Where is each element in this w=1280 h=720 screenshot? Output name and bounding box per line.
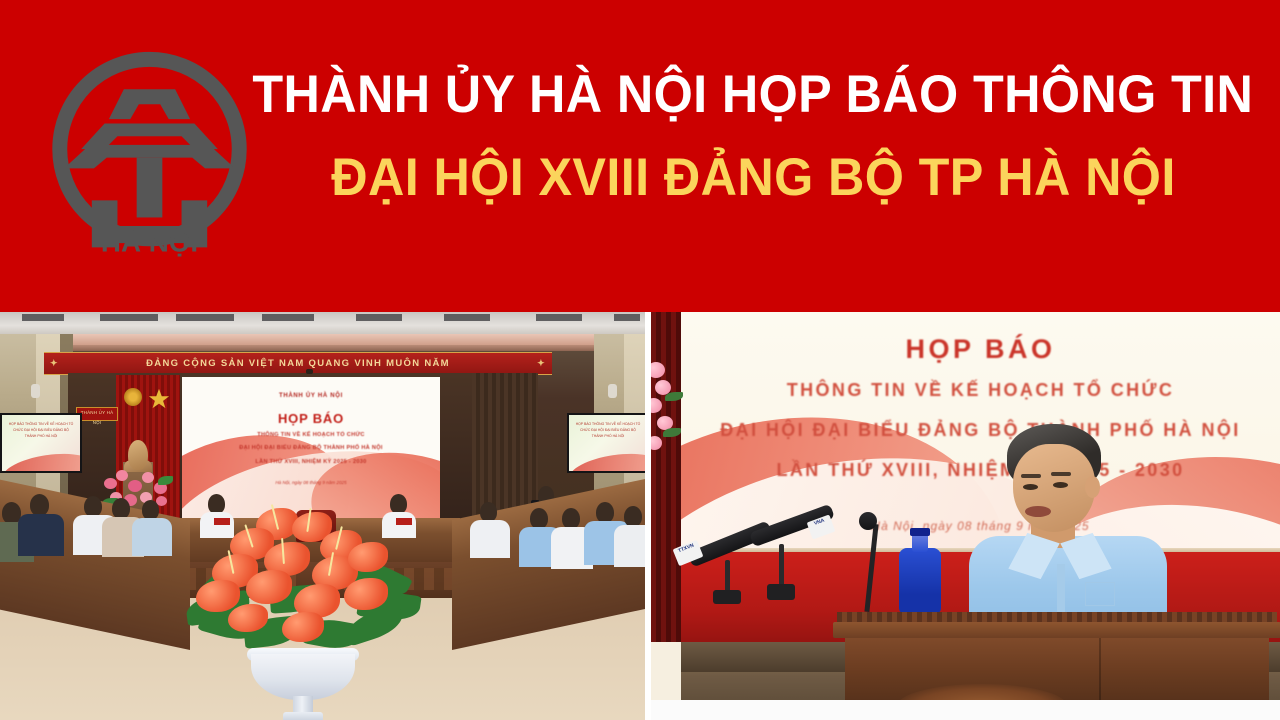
side-monitor-right-text: HỌP BÁO THÔNG TIN VỀ KẾ HOẠCH TỔ CHỨC ĐẠ… (575, 421, 641, 439)
backdrop-headline: HỌP BÁO (681, 334, 1280, 365)
hanoi-emblem-logo: HÀ NỘI (42, 38, 257, 273)
podium-plaque-text: THÀNH ỦY HÀ NỘI (77, 408, 117, 428)
photo-conference-hall: ✦ ĐẢNG CỘNG SẢN VIỆT NAM QUANG VINH MUÔN… (0, 312, 645, 720)
side-monitor-left-text: HỌP BÁO THÔNG TIN VỀ KẾ HOẠCH TỔ CHỨC ĐẠ… (8, 421, 74, 439)
water-bottle (899, 530, 941, 614)
poster-root: HÀ NỘI THÀNH ỦY HÀ NỘI HỌP BÁO THÔNG TIN… (0, 0, 1280, 720)
wall-sconce-icon (608, 384, 617, 398)
ceiling-camera-icon (306, 369, 313, 374)
page-title-line-1: THÀNH ỦY HÀ NỘI HỌP BÁO THÔNG TIN (253, 64, 1254, 125)
side-monitor-right: HỌP BÁO THÔNG TIN VỀ KẾ HOẠCH TỔ CHỨC ĐẠ… (567, 413, 645, 473)
screen-headline: HỌP BÁO (182, 411, 440, 426)
gold-star-icon (148, 388, 170, 410)
red-title-banner: HÀ NỘI THÀNH ỦY HÀ NỘI HỌP BÁO THÔNG TIN… (0, 0, 1280, 312)
ceiling-beam (0, 334, 645, 345)
pink-flower-spray (651, 362, 685, 482)
photo-bottom-strip (651, 700, 1280, 720)
emblem-caption: HÀ NỘI (101, 226, 198, 258)
wall-slogan-banner: ✦ ĐẢNG CỘNG SẢN VIỆT NAM QUANG VINH MUÔN… (44, 352, 552, 375)
banner-titles: THÀNH ỦY HÀ NỘI HỌP BÁO THÔNG TIN ĐẠI HỘ… (258, 46, 1248, 246)
side-monitor-left: HỌP BÁO THÔNG TIN VỀ KẾ HOẠCH TỔ CHỨC ĐẠ… (0, 413, 82, 473)
screen-subline-2: ĐẠI HỘI ĐẠI BIỂU ĐẢNG BỘ THÀNH PHỐ HÀ NỘ… (182, 444, 440, 452)
wall-sconce-icon (31, 384, 40, 398)
podium-plaque: THÀNH ỦY HÀ NỘI (76, 407, 118, 421)
backdrop-line-1: THÔNG TIN VỀ KẾ HOẠCH TỔ CHỨC (681, 377, 1280, 405)
photo-strip: ✦ ĐẢNG CỘNG SẢN VIỆT NAM QUANG VINH MUÔN… (0, 312, 1280, 720)
page-title-line-2: ĐẠI HỘI XVIII ĐẢNG BỘ TP HÀ NỘI (331, 147, 1176, 208)
flower-urn (243, 626, 363, 720)
party-emblem-icon (124, 388, 142, 406)
screen-date: Hà Nội, ngày 08 tháng 9 năm 2025 (182, 480, 440, 485)
photo-speaker-podium: HỌP BÁO THÔNG TIN VỀ KẾ HOẠCH TỔ CHỨC ĐẠ… (651, 312, 1280, 720)
wall-slogan-text: ĐẢNG CỘNG SẢN VIỆT NAM QUANG VINH MUÔN N… (146, 358, 450, 369)
screen-subline-3: LẦN THỨ XVIII, NHIỆM KỲ 2025 - 2030 (182, 458, 440, 466)
screen-subline-1: THÔNG TIN VỀ KẾ HOẠCH TỔ CHỨC (182, 431, 440, 439)
speaker-person (973, 424, 1163, 634)
ho-chi-minh-bust (128, 440, 148, 470)
screen-organization: THÀNH ỦY HÀ NỘI (182, 393, 440, 399)
